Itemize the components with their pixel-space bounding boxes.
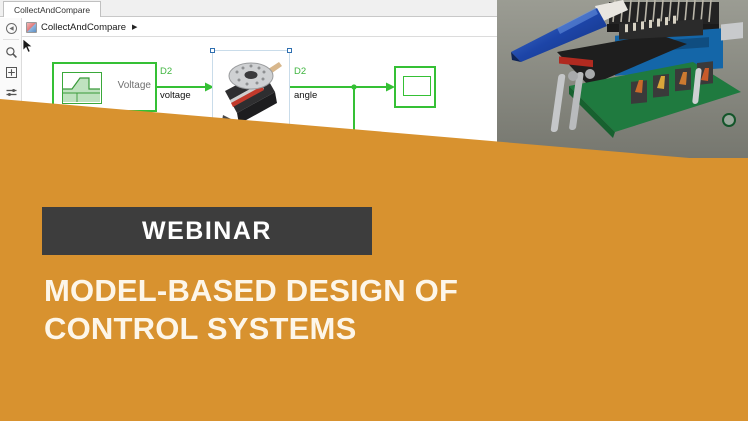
outport-block[interactable]: 1 — [394, 139, 438, 159]
selection-handle[interactable] — [210, 133, 215, 138]
model-canvas[interactable]: Voltage Signal Builder D2 voltage — [22, 38, 500, 182]
navigate-up-icon[interactable] — [3, 20, 19, 36]
zoom-icon[interactable] — [3, 44, 19, 60]
signal-builder-icon — [62, 72, 102, 104]
signal-builder-label: Voltage — [118, 80, 151, 91]
breadcrumb[interactable]: CollectAndCompare ▶ — [22, 18, 500, 37]
canvas-toolbar — [0, 18, 22, 182]
slide-title-line-2: CONTROL SYSTEMS — [44, 310, 704, 348]
signal-bus-voltage: D2 — [160, 66, 172, 77]
scope-screen-icon — [403, 76, 431, 96]
download-logged-data-button[interactable]: Download Logged Data to WkS — [25, 165, 190, 182]
tab-strip: CollectAndCompare — [0, 0, 500, 17]
webinar-label: WEBINAR — [142, 217, 272, 246]
model-icon — [26, 22, 37, 33]
slide-root: CollectAndCompare — [0, 0, 748, 421]
signal-builder-block[interactable]: Voltage — [52, 62, 157, 112]
slide-title-line-1: MODEL-BASED DESIGN OF — [44, 272, 704, 310]
simulink-window: CollectAndCompare — [0, 0, 500, 182]
breadcrumb-label: CollectAndCompare — [41, 22, 126, 33]
chevron-right-icon[interactable]: ▶ — [132, 24, 137, 31]
outport-number: 1 — [413, 144, 418, 154]
signal-label-angle: angle — [294, 90, 317, 101]
selection-handle[interactable] — [210, 48, 215, 53]
tab-collectandcompare[interactable]: CollectAndCompare — [3, 1, 101, 17]
fit-to-view-icon[interactable] — [3, 64, 19, 80]
hardware-photo — [497, 0, 748, 158]
plot-vs-measured-data-button[interactable]: Plot vs Measured Data — [213, 165, 349, 182]
signal-bus-angle: D2 — [294, 66, 306, 77]
slide-title: MODEL-BASED DESIGN OF CONTROL SYSTEMS — [44, 272, 704, 348]
selection-handle[interactable] — [287, 48, 292, 53]
selection-handle[interactable] — [287, 133, 292, 138]
scope-block[interactable] — [394, 66, 436, 108]
webinar-banner: WEBINAR — [42, 207, 372, 255]
servo-motor-block[interactable] — [212, 50, 290, 136]
layers-icon[interactable] — [3, 84, 19, 100]
signal-builder-caption: Signal Builder — [66, 120, 122, 130]
servo-motor-image — [213, 51, 288, 134]
signal-label-voltage: voltage — [160, 90, 191, 101]
model-buttons: Download Logged Data to WkS Plot vs Meas… — [0, 165, 500, 182]
mouse-cursor-icon — [22, 38, 35, 54]
